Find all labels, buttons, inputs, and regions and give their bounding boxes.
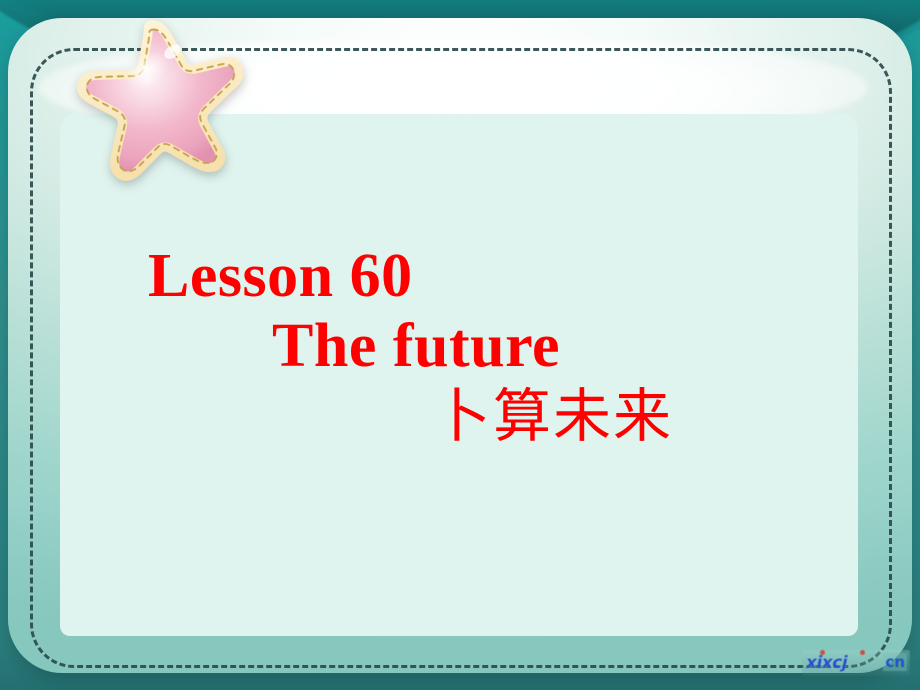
title-line-lesson: Lesson 60 [148,245,413,307]
title-line-topic: The future [272,315,560,377]
watermark-tld: cn [883,653,907,671]
watermark-text: xixcj [806,653,847,673]
title-line-chinese: 卜算未来 [433,387,673,445]
watermark-dot-right [860,650,865,655]
site-watermark: xixcj cn [802,650,910,676]
slide-canvas: Lesson 60 The future 卜算未来 [0,0,920,690]
pink-star-icon [67,3,257,193]
